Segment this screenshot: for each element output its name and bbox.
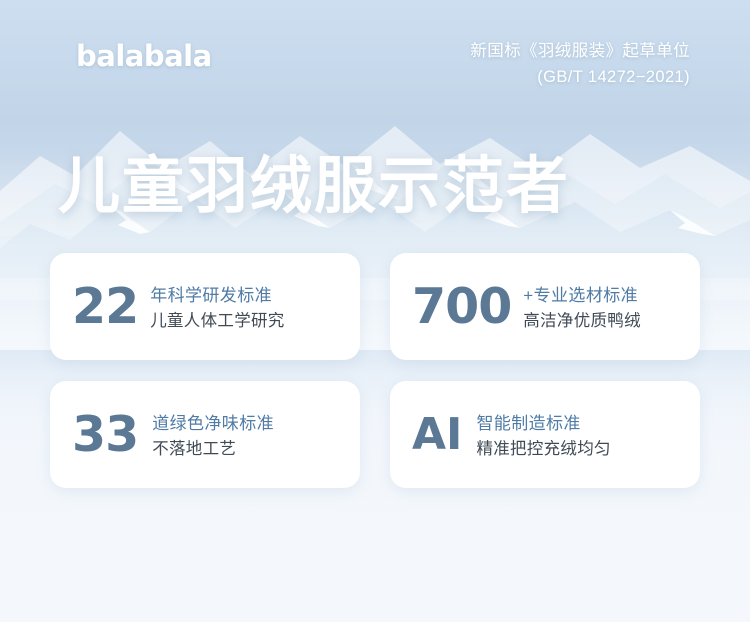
- feature-title: 智能制造标准: [476, 415, 610, 434]
- feature-card-700: 700 +专业选材标准 高洁净优质鸭绒: [390, 253, 700, 360]
- feature-number: 700: [412, 282, 511, 331]
- brand-logo: balabala: [76, 39, 212, 73]
- feature-text: +专业选材标准 高洁净优质鸭绒: [523, 283, 641, 331]
- page-title: 儿童羽绒服示范者: [58, 156, 570, 218]
- feature-subtitle: 高洁净优质鸭绒: [523, 312, 641, 330]
- feature-subtitle: 精准把控充绒均匀: [476, 440, 610, 458]
- feature-title: 年科学研发标准: [150, 287, 284, 306]
- feature-card-22: 22 年科学研发标准 儿童人体工学研究: [50, 253, 360, 360]
- feature-card-33: 33 道绿色净味标准 不落地工艺: [50, 381, 360, 488]
- feature-number: 22: [72, 282, 138, 331]
- feature-subtitle: 儿童人体工学研究: [150, 312, 284, 330]
- feature-card-ai: AI 智能制造标准 精准把控充绒均匀: [390, 381, 700, 488]
- feature-subtitle: 不落地工艺: [152, 440, 274, 458]
- feature-text: 道绿色净味标准 不落地工艺: [152, 411, 274, 459]
- poster-canvas: balabala 新国标《羽绒服装》起草单位 (GB/T 14272−2021)…: [0, 0, 750, 622]
- standard-line-2: (GB/T 14272−2021): [470, 64, 690, 90]
- feature-number: AI: [412, 413, 462, 457]
- feature-title: 道绿色净味标准: [152, 415, 274, 434]
- feature-number: 33: [72, 410, 138, 459]
- standard-line-1: 新国标《羽绒服装》起草单位: [470, 38, 690, 64]
- feature-text: 年科学研发标准 儿童人体工学研究: [150, 283, 284, 331]
- feature-card-grid: 22 年科学研发标准 儿童人体工学研究 700 +专业选材标准 高洁净优质鸭绒 …: [50, 253, 700, 488]
- feature-title: +专业选材标准: [523, 287, 641, 306]
- national-standard-note: 新国标《羽绒服装》起草单位 (GB/T 14272−2021): [470, 38, 690, 90]
- feature-text: 智能制造标准 精准把控充绒均匀: [476, 411, 610, 459]
